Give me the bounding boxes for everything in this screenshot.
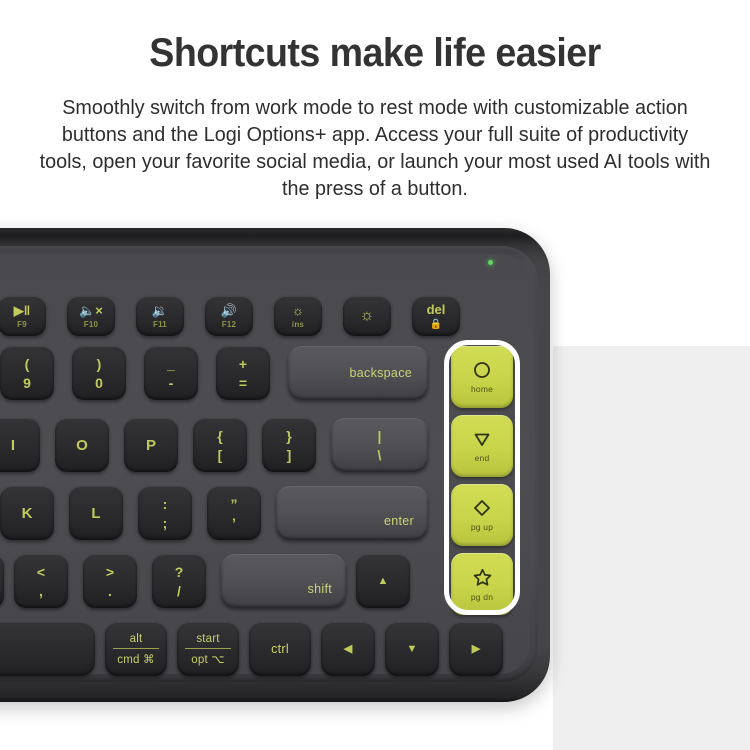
triangle-down-icon	[472, 429, 492, 449]
key-arrow-left[interactable]: ◀	[321, 622, 375, 676]
key-glyph-lower: -	[169, 376, 174, 390]
key-enter[interactable]: enter	[276, 486, 428, 540]
key-glyph-upper: ”	[231, 497, 238, 511]
volume-mute-icon: 🔈×	[79, 304, 103, 317]
star-icon	[472, 567, 493, 588]
key-glyph-upper: (	[25, 357, 30, 371]
brightness-down-icon: ☼	[292, 304, 304, 317]
side-panel	[553, 346, 750, 750]
key-minus[interactable]: _ -	[144, 346, 198, 400]
key-glyph-upper: |	[378, 429, 382, 443]
action-key-label: pg up	[471, 523, 493, 532]
key-label: backspace	[350, 366, 412, 380]
key-label-upper: alt	[130, 633, 143, 648]
key-glyph-upper: +	[239, 357, 247, 371]
key-glyph-upper: {	[217, 429, 222, 443]
key-semicolon[interactable]: : ;	[138, 486, 192, 540]
key-l[interactable]: L	[69, 486, 123, 540]
key-dual-label: alt cmd ⌘	[113, 633, 159, 666]
key-glyph-lower: 9	[23, 376, 31, 390]
key-glyph-upper: :	[163, 497, 168, 511]
key-alt-cmd[interactable]: alt cmd ⌘	[105, 622, 167, 676]
brightness-up-icon: ☼	[360, 308, 375, 324]
key-glyph: I	[11, 438, 15, 453]
volume-down-icon: 🔉	[152, 304, 168, 317]
key-brightness-down[interactable]: ☼ ins	[274, 296, 322, 336]
key-ctrl[interactable]: ctrl	[249, 622, 311, 676]
keyboard-image: G ▶‖ F9 🔈× F10 🔉 F11 🔊 F12 ☼ ins	[0, 228, 550, 702]
key-period[interactable]: > .	[83, 554, 137, 608]
key-label: enter	[384, 514, 414, 528]
key-label: del	[427, 303, 446, 316]
action-key-label: home	[471, 385, 493, 394]
key-glyph-lower: ,	[39, 584, 43, 598]
action-key-pgup[interactable]: pg up	[451, 484, 513, 546]
key-label-lower: opt ⌥	[191, 649, 224, 666]
diamond-icon	[472, 498, 492, 518]
key-o[interactable]: O	[55, 418, 109, 472]
key-glyph-lower: ;	[163, 516, 168, 530]
key-glyph-lower: ’	[232, 516, 236, 530]
key-k[interactable]: K	[0, 486, 54, 540]
key-slash[interactable]: ? /	[152, 554, 206, 608]
key-sublabel: ins	[292, 321, 304, 329]
key-glyph-upper: }	[286, 429, 291, 443]
lock-icon: 🔒	[430, 320, 443, 330]
key-9[interactable]: ( 9	[0, 346, 54, 400]
key-glyph-lower: /	[177, 584, 181, 598]
key-arrow-down[interactable]: ▼	[385, 622, 439, 676]
key-sublabel: F9	[17, 321, 27, 329]
key-del[interactable]: del 🔒	[412, 296, 460, 336]
key-backspace[interactable]: backspace	[288, 346, 428, 400]
key-arrow-up[interactable]: ▲	[356, 554, 410, 608]
page-description: Smoothly switch from work mode to rest m…	[37, 94, 713, 202]
action-key-pgdn[interactable]: pg dn	[451, 553, 513, 615]
key-glyph-lower: .	[108, 584, 112, 598]
key-bracket-right[interactable]: } ]	[262, 418, 316, 472]
page-title: Shortcuts make life easier	[23, 28, 728, 78]
key-f10-mute[interactable]: 🔈× F10	[67, 296, 115, 336]
key-glyph-upper: >	[106, 565, 114, 579]
action-key-home[interactable]: home	[451, 346, 513, 408]
action-key-label: end	[475, 454, 490, 463]
arrow-left-icon: ◀	[344, 644, 352, 655]
key-sublabel: F10	[84, 321, 98, 329]
volume-up-icon: 🔊	[221, 304, 237, 317]
key-glyph-lower: =	[239, 376, 247, 390]
key-quote[interactable]: ” ’	[207, 486, 261, 540]
key-glyph-lower: \	[378, 448, 382, 462]
action-key-label: pg dn	[471, 593, 493, 602]
key-bracket-left[interactable]: { [	[193, 418, 247, 472]
arrow-right-icon: ▶	[472, 644, 480, 655]
marketing-copy: Shortcuts make life easier Smoothly swit…	[0, 0, 750, 202]
key-glyph-lower: ]	[287, 448, 292, 462]
arrow-up-icon: ▲	[378, 576, 389, 587]
key-sublabel: F12	[222, 321, 236, 329]
key-label-upper: start	[196, 633, 219, 648]
key-label-lower: cmd ⌘	[117, 649, 154, 666]
key-glyph-lower: 0	[95, 376, 103, 390]
key-p[interactable]: P	[124, 418, 178, 472]
key-shift-right[interactable]: shift	[221, 554, 346, 608]
key-sublabel: F11	[153, 321, 167, 329]
key-glyph: L	[91, 506, 100, 521]
key-glyph: P	[146, 438, 156, 453]
key-glyph-upper: <	[37, 565, 45, 579]
key-brightness-up[interactable]: ☼	[343, 296, 391, 336]
key-glyph: O	[76, 438, 88, 453]
action-key-end[interactable]: end	[451, 415, 513, 477]
circle-icon	[472, 360, 492, 380]
key-glyph: K	[22, 506, 33, 521]
key-glyph-upper: _	[167, 357, 175, 371]
key-glyph-upper: )	[97, 357, 102, 371]
key-backslash[interactable]: | \	[331, 418, 428, 472]
key-glyph-upper: ?	[175, 565, 184, 579]
key-m-partial[interactable]: M	[0, 554, 4, 608]
key-0[interactable]: ) 0	[72, 346, 126, 400]
key-label: ctrl	[271, 642, 289, 656]
key-area: G ▶‖ F9 🔈× F10 🔉 F11 🔊 F12 ☼ ins	[0, 228, 550, 702]
key-i[interactable]: I	[0, 418, 40, 472]
key-f9-playpause[interactable]: ▶‖ F9	[0, 296, 46, 336]
key-f11-volume-down[interactable]: 🔉 F11	[136, 296, 184, 336]
key-arrow-right[interactable]: ▶	[449, 622, 503, 676]
key-equals[interactable]: + =	[216, 346, 270, 400]
key-spacebar[interactable]	[0, 622, 95, 676]
key-f12-volume-up[interactable]: 🔊 F12	[205, 296, 253, 336]
arrow-down-icon: ▼	[407, 644, 418, 655]
play-pause-icon: ▶‖	[14, 304, 30, 317]
key-dual-label: start opt ⌥	[185, 633, 231, 666]
key-start-opt[interactable]: start opt ⌥	[177, 622, 239, 676]
key-comma[interactable]: < ,	[14, 554, 68, 608]
key-label: shift	[308, 582, 332, 596]
status-led-icon	[488, 260, 493, 265]
key-glyph-lower: [	[218, 448, 223, 462]
page-root: Shortcuts make life easier Smoothly swit…	[0, 0, 750, 750]
